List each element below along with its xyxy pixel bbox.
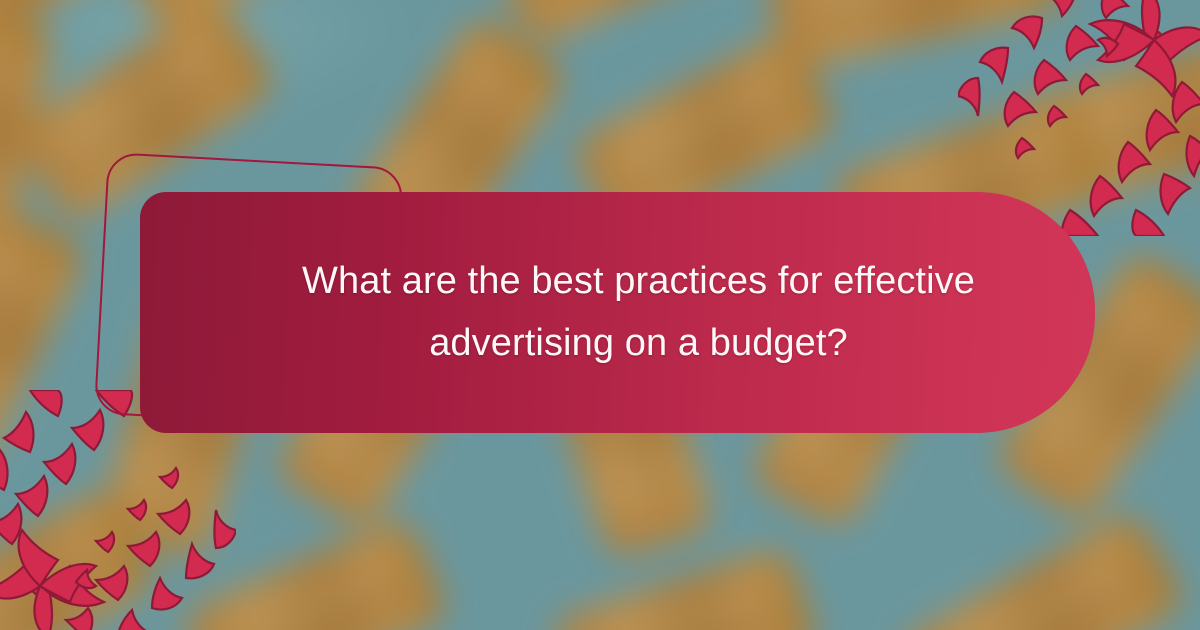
social-card-canvas: What are the best practices for effectiv…: [0, 0, 1200, 630]
question-banner: What are the best practices for effectiv…: [140, 192, 1095, 433]
question-title: What are the best practices for effectiv…: [140, 251, 1095, 374]
